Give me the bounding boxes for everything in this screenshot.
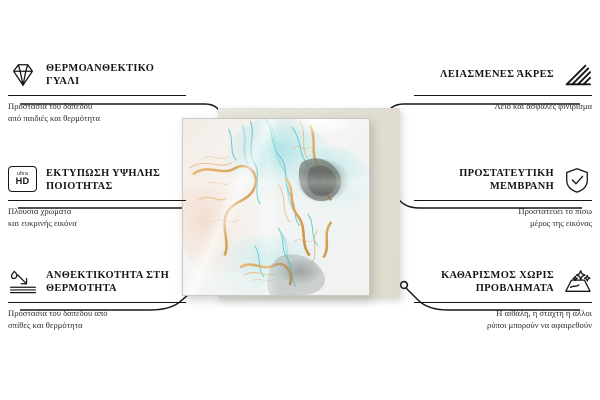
feature-description: Προστασία του δαπέδου από σπίθες και θερ… — [8, 308, 186, 331]
divider — [414, 302, 592, 303]
feature-title: ΑΝΘΕΚΤΙΚΟΤΗΤΑ ΣΤΗ ΘΕΡΜΟΤΗΤΑ — [46, 269, 186, 295]
divider — [8, 200, 186, 201]
feature-polished-edges: ΛΕΙΑΣΜΕΝΕΣ ΆΚΡΕΣ Λείο και ασφαλές φινίρι… — [414, 58, 592, 113]
connector-dot — [401, 282, 408, 289]
feature-heat-resistance: ΑΝΘΕΚΤΙΚΟΤΗΤΑ ΣΤΗ ΘΕΡΜΟΤΗΤΑ Προστασία το… — [8, 265, 186, 331]
divider — [8, 95, 186, 96]
ultra-hd-icon: ultra HD — [8, 166, 38, 194]
shield-check-icon — [562, 166, 592, 194]
feature-description: Προστατεύει το πίσω μέρος της εικόνας — [414, 206, 592, 229]
divider — [414, 95, 592, 96]
divider — [8, 302, 186, 303]
feature-description: Προστασία του δαπέδου από παιδιές και θε… — [8, 101, 186, 124]
feature-title: ΠΡΟΣΤΑΤΕΥΤΙΚΗ ΜΕΜΒΡΑΝΗ — [414, 167, 554, 193]
feature-title: ΚΑΘΑΡΙΣΜΟΣ ΧΩΡΙΣ ΠΡΟΒΛΗΜΑΤΑ — [414, 269, 554, 295]
easy-clean-icon — [562, 268, 592, 296]
feature-protective-membrane: ΠΡΟΣΤΑΤΕΥΤΙΚΗ ΜΕΜΒΡΑΝΗ Προστατεύει το πί… — [414, 163, 592, 229]
feature-description: Πλούσια χρώματα και ευκρινής εικόνα — [8, 206, 186, 229]
feature-description: Λείο και ασφαλές φινίρισμα — [414, 101, 592, 112]
divider — [414, 200, 592, 201]
feature-title: ΕΚΤΥΠΩΣΗ ΥΨΗΛΗΣ ΠΟΙΟΤΗΤΑΣ — [46, 167, 186, 193]
infographic-canvas: ΘΕΡΜΟΑΝΘΕΚΤΙΚΟ ΓΥΑΛΙ Προστασία του δαπέδ… — [0, 0, 600, 400]
feature-title: ΘΕΡΜΟΑΝΘΕΚΤΙΚΟ ΓΥΑΛΙ — [46, 62, 186, 88]
polished-edges-icon — [562, 61, 592, 89]
feature-description: Η αιθάλη, η στάχτη ή άλλοι ρύποι μπορούν… — [414, 308, 592, 331]
glass-panel — [182, 118, 370, 296]
feature-high-quality-print: ultra HD ΕΚΤΥΠΩΣΗ ΥΨΗΛΗΣ ΠΟΙΟΤΗΤΑΣ Πλούσ… — [8, 163, 186, 229]
product-image — [182, 112, 400, 298]
heat-resistance-icon — [8, 268, 38, 296]
diamond-icon — [8, 61, 38, 89]
ultra-hd-badge-main: HD — [16, 177, 30, 186]
feature-thermal-glass: ΘΕΡΜΟΑΝΘΕΚΤΙΚΟ ΓΥΑΛΙ Προστασία του δαπέδ… — [8, 58, 186, 124]
marble-artwork — [183, 119, 369, 295]
feature-easy-cleaning: ΚΑΘΑΡΙΣΜΟΣ ΧΩΡΙΣ ΠΡΟΒΛΗΜΑΤΑ Η αιθάλη, η … — [414, 265, 592, 331]
feature-title: ΛΕΙΑΣΜΕΝΕΣ ΆΚΡΕΣ — [440, 68, 554, 81]
